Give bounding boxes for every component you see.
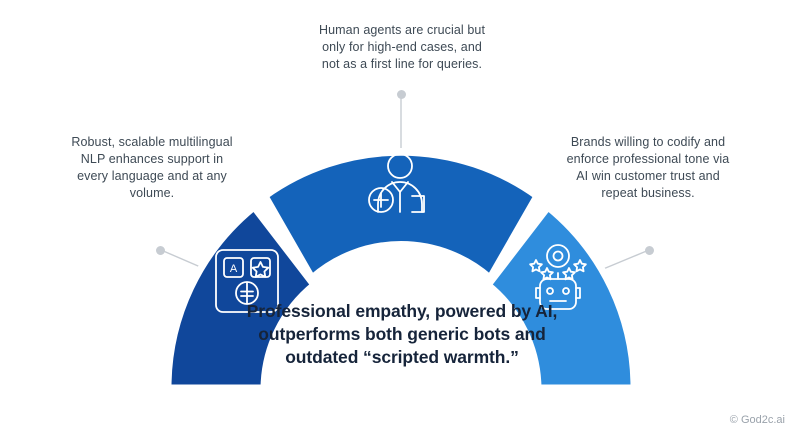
credit-label: © God2c.ai bbox=[730, 414, 785, 426]
infographic-canvas: A bbox=[0, 0, 801, 442]
callout-text-right: Brands willing to codify and enforce pro… bbox=[562, 134, 734, 202]
connector-dot-right bbox=[645, 246, 654, 255]
svg-text:A: A bbox=[230, 263, 238, 275]
connector-dot-left bbox=[156, 246, 165, 255]
callout-text-left: Robust, scalable multilingual NLP enhanc… bbox=[68, 134, 236, 202]
segment-top[interactable] bbox=[265, 152, 537, 278]
connector-dot-top bbox=[397, 90, 406, 99]
center-statement: Professional empathy, powered by AI, out… bbox=[232, 300, 572, 369]
callout-text-top: Human agents are crucial but only for hi… bbox=[312, 22, 492, 73]
